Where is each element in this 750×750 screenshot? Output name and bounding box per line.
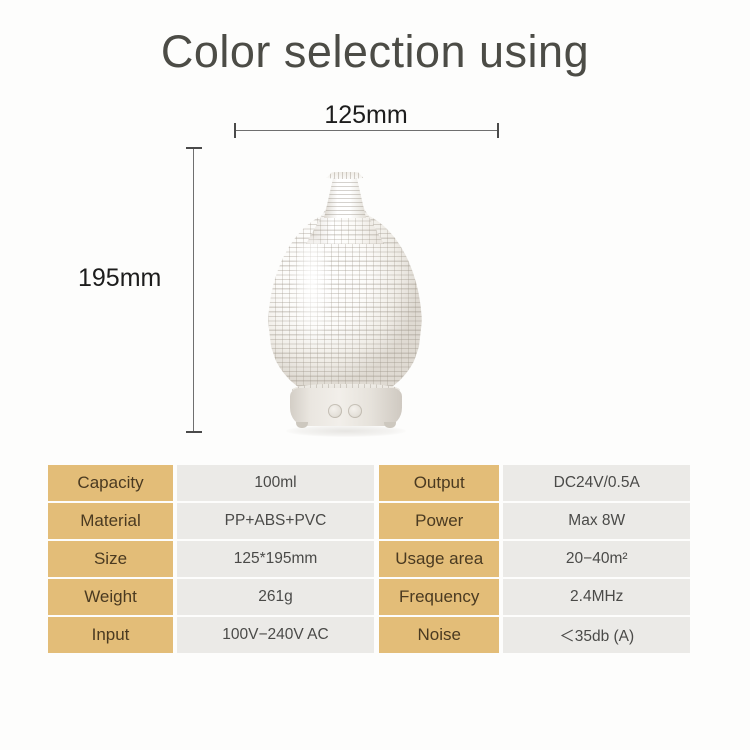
product-image-rattan-woven-aroma-diffuser [262, 172, 428, 434]
width-dimension-line [234, 130, 498, 131]
width-dimension-label: 125mm [234, 101, 498, 130]
height-dimension-label: 195mm [78, 264, 161, 293]
spec-value-usage-area: 20−40m² [503, 541, 690, 577]
width-dimension-cap-right [497, 123, 499, 138]
spec-value-capacity: 100ml [177, 465, 374, 501]
page-title: Color selection using [0, 26, 750, 78]
spec-label-weight: Weight [48, 579, 173, 615]
spec-pair-frequency: Frequency 2.4MHz [374, 579, 690, 615]
spec-label-input: Input [48, 617, 173, 653]
product-light-button [348, 404, 362, 418]
height-dimension-cap-bottom [186, 431, 202, 433]
product-neck [324, 174, 366, 218]
spec-pair-material: Material PP+ABS+PVC [48, 503, 374, 539]
table-row: Input 100V−240V AC Noise ＜35db (A) [48, 617, 690, 653]
product-base [290, 388, 402, 426]
spec-label-frequency: Frequency [379, 579, 499, 615]
product-highlight [292, 238, 332, 348]
product-power-button [328, 404, 342, 418]
spec-label-noise: Noise [379, 617, 499, 653]
spec-value-power: Max 8W [503, 503, 690, 539]
spec-value-material: PP+ABS+PVC [177, 503, 374, 539]
spec-label-usage-area: Usage area [379, 541, 499, 577]
spec-pair-capacity: Capacity 100ml [48, 465, 374, 501]
spec-pair-size: Size 125*195mm [48, 541, 374, 577]
spec-pair-weight: Weight 261g [48, 579, 374, 615]
table-row: Weight 261g Frequency 2.4MHz [48, 579, 690, 615]
spec-pair-noise: Noise ＜35db (A) [374, 617, 690, 653]
product-spec-page: Color selection using 125mm 195mm Capaci… [0, 0, 750, 750]
specification-table: Capacity 100ml Output DC24V/0.5A Materia… [48, 465, 690, 653]
spec-value-frequency: 2.4MHz [503, 579, 690, 615]
height-dimension-cap-top [186, 147, 202, 149]
spec-label-material: Material [48, 503, 173, 539]
spec-value-output: DC24V/0.5A [503, 465, 690, 501]
spec-label-size: Size [48, 541, 173, 577]
spec-value-input: 100V−240V AC [177, 617, 374, 653]
width-dimension-cap-left [234, 123, 236, 138]
spec-value-noise: ＜35db (A) [503, 617, 690, 653]
spec-label-power: Power [379, 503, 499, 539]
height-dimension-line [193, 148, 194, 432]
spec-value-size: 125*195mm [177, 541, 374, 577]
spec-pair-input: Input 100V−240V AC [48, 617, 374, 653]
product-neck-rim [322, 172, 368, 179]
table-row: Material PP+ABS+PVC Power Max 8W [48, 503, 690, 539]
table-row: Capacity 100ml Output DC24V/0.5A [48, 465, 690, 501]
spec-label-output: Output [379, 465, 499, 501]
spec-pair-power: Power Max 8W [374, 503, 690, 539]
spec-pair-output: Output DC24V/0.5A [374, 465, 690, 501]
table-row: Size 125*195mm Usage area 20−40m² [48, 541, 690, 577]
spec-label-capacity: Capacity [48, 465, 173, 501]
spec-pair-usage-area: Usage area 20−40m² [374, 541, 690, 577]
spec-value-weight: 261g [177, 579, 374, 615]
